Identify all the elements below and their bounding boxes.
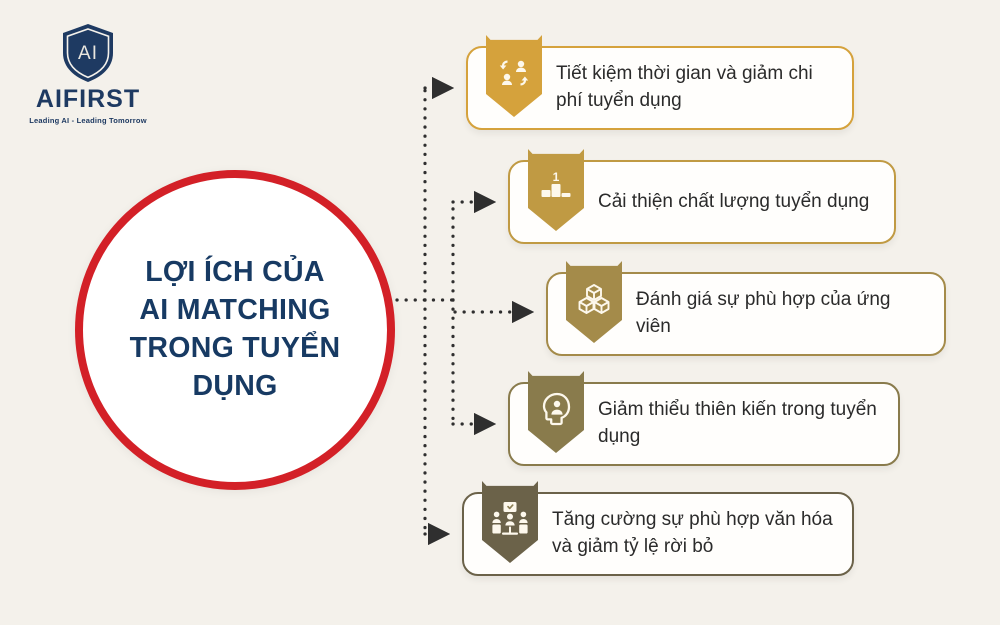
benefit-label: Giảm thiểu thiên kiến trong tuyển dụng — [598, 397, 884, 451]
benefit-card-3[interactable]: Đánh giá sự phù hợp của ứng viên — [546, 272, 946, 356]
title-line: AI MATCHING — [100, 292, 370, 330]
people-network-icon — [486, 35, 542, 117]
benefit-card-5[interactable]: Tăng cường sự phù hợp văn hóa và giảm tỷ… — [462, 492, 854, 576]
benefit-label: Đánh giá sự phù hợp của ứng viên — [636, 287, 930, 341]
team-meeting-icon — [482, 481, 538, 563]
page-title: LỢI ÍCH CỦA AI MATCHING TRONG TUYỂN DỤNG — [100, 254, 370, 406]
title-line: DỤNG — [100, 368, 370, 406]
head-profile-icon — [528, 371, 584, 453]
benefit-label: Tăng cường sự phù hợp văn hóa và giảm tỷ… — [552, 507, 838, 561]
stacked-cubes-icon — [566, 261, 622, 343]
benefit-label: Tiết kiệm thời gian và giảm chi phí tuyể… — [556, 61, 838, 115]
brand-tagline: Leading AI - Leading Tomorrow — [18, 117, 158, 125]
benefit-label: Cải thiện chất lượng tuyển dụng — [598, 189, 869, 216]
benefit-card-1[interactable]: Tiết kiệm thời gian và giảm chi phí tuyể… — [466, 46, 854, 130]
center-topic-circle: LỢI ÍCH CỦA AI MATCHING TRONG TUYỂN DỤNG — [75, 170, 395, 490]
brand-name: AIFIRST — [18, 87, 158, 112]
svg-text:AI: AI — [78, 43, 98, 64]
title-line: TRONG TUYỂN — [100, 330, 370, 368]
title-line: LỢI ÍCH CỦA — [100, 254, 370, 292]
benefit-card-2[interactable]: 1 Cải thiện chất lượng tuyển dụng — [508, 160, 896, 244]
podium-ranking-icon: 1 — [528, 149, 584, 231]
svg-text:1: 1 — [553, 170, 560, 184]
benefit-card-4[interactable]: Giảm thiểu thiên kiến trong tuyển dụng — [508, 382, 900, 466]
shield-ai-icon: AI — [18, 22, 158, 84]
brand-logo: AI AIFIRST Leading AI - Leading Tomorrow — [18, 22, 158, 125]
